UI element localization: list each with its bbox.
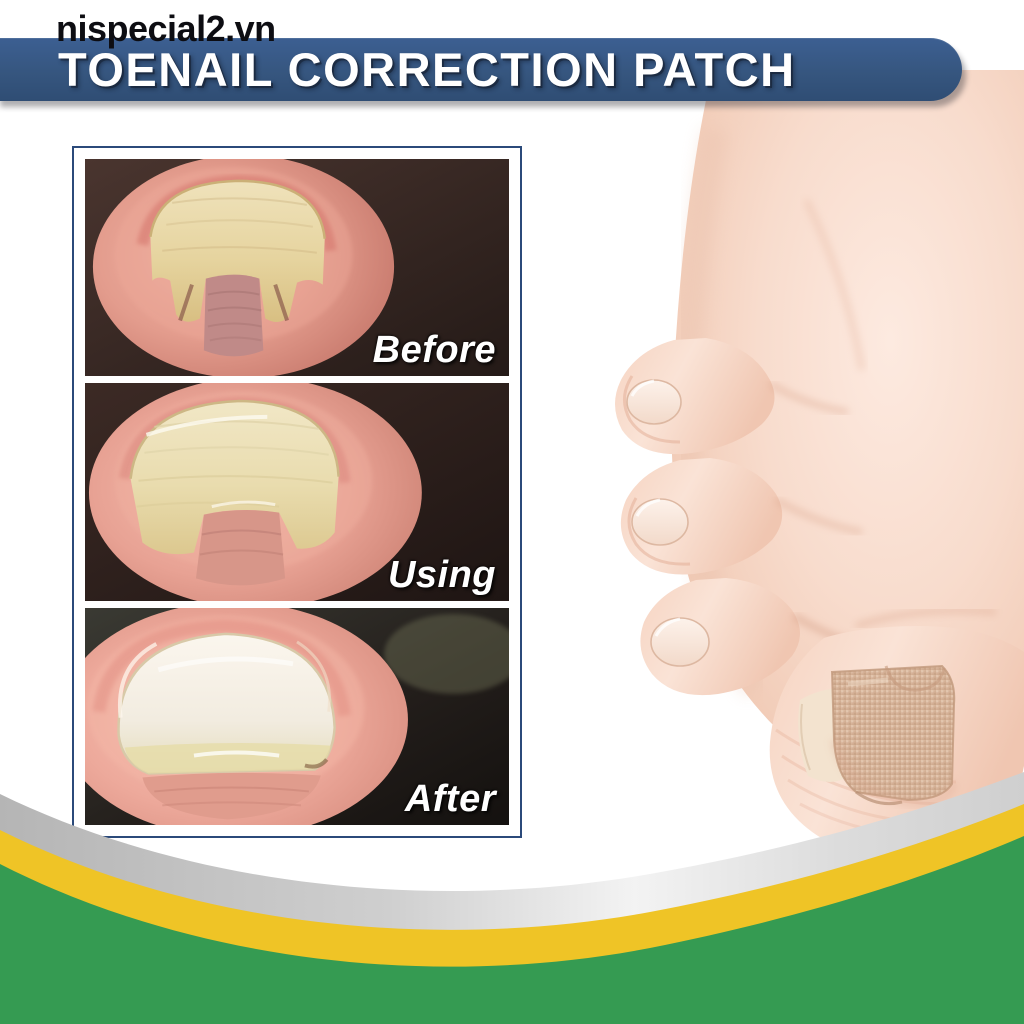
- foot-illustration: [556, 40, 1024, 860]
- photo-stack: Before: [85, 159, 509, 825]
- before-photo-illustration: [85, 159, 509, 376]
- site-watermark: nispecial2.vn: [56, 8, 276, 50]
- advertisement-canvas: TOENAIL CORRECTION PATCH nispecial2.vn: [0, 0, 1024, 1024]
- before-photo: Before: [85, 159, 509, 376]
- using-photo-illustration: [85, 383, 509, 600]
- decorative-wave: [0, 764, 1024, 1024]
- using-photo: Using: [85, 383, 509, 600]
- product-foot-photo: [556, 40, 1024, 860]
- before-after-panel: Before: [72, 146, 522, 838]
